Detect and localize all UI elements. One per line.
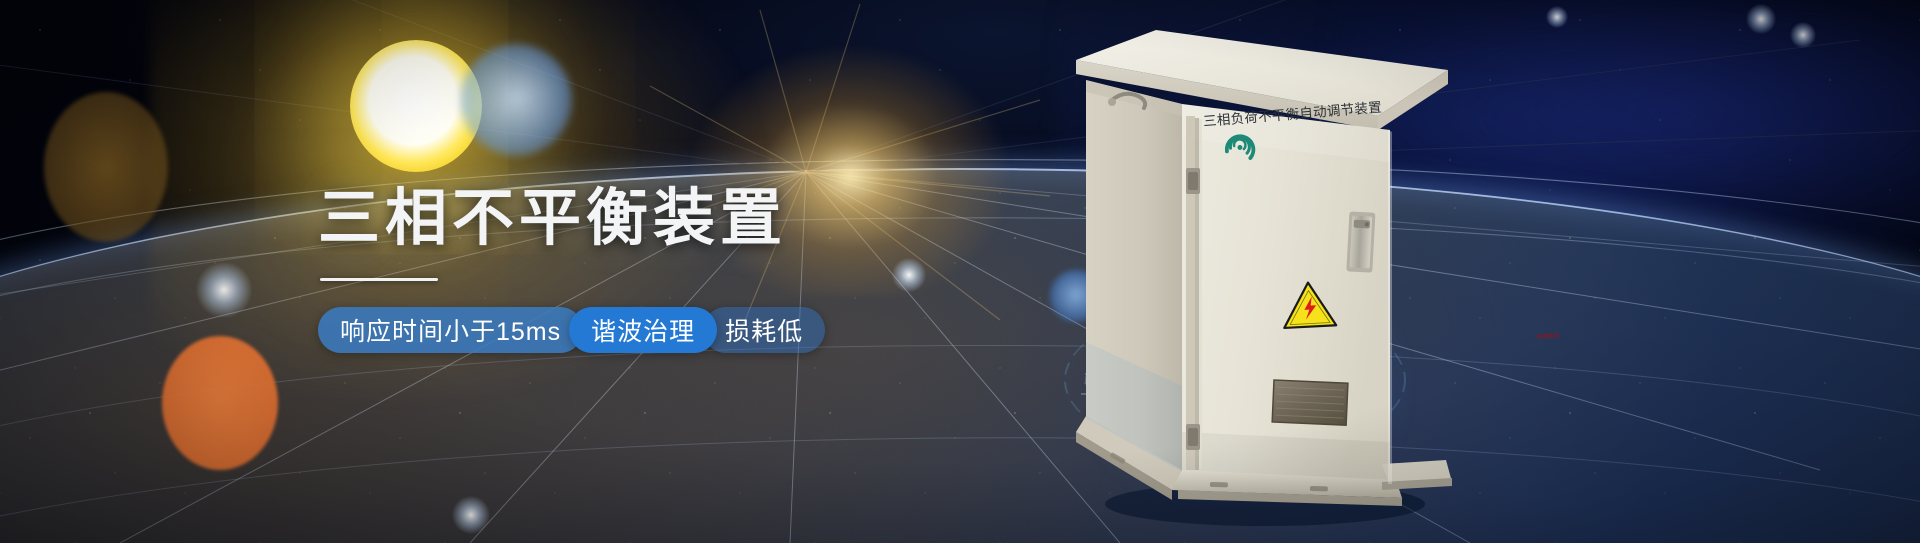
feature-tag-list: 响应时间小于15ms 谐波治理 损耗低 (318, 307, 938, 353)
page-title: 三相不平衡装置 (318, 186, 938, 252)
title-divider (320, 278, 438, 281)
bokeh-circle-blue (460, 44, 572, 156)
bokeh-circle-orange (162, 336, 278, 470)
sparkle-top-right-a (1746, 4, 1776, 34)
light-glint-bottom (452, 496, 490, 534)
feature-tag-harmonic-treatment[interactable]: 谐波治理 (569, 307, 717, 353)
feature-tag-low-loss[interactable]: 损耗低 (703, 307, 825, 353)
product-cabinet-image (1060, 12, 1480, 532)
hero-banner: 三相负荷不平衡自动调节装置 有电危险 三相不平衡装置 响应时间小于15ms 谐波… (0, 0, 1920, 543)
banner-copy-block: 三相不平衡装置 响应时间小于15ms 谐波治理 损耗低 (318, 186, 938, 353)
warning-sticker-text: 有电危险 (1537, 331, 1560, 340)
sparkle-top-right-b (1790, 22, 1816, 48)
feature-tag-response-time[interactable]: 响应时间小于15ms (318, 307, 583, 353)
sparkle-top-right-c (1546, 6, 1568, 28)
bokeh-circle-amber (44, 92, 168, 242)
light-glint-left (196, 262, 252, 318)
